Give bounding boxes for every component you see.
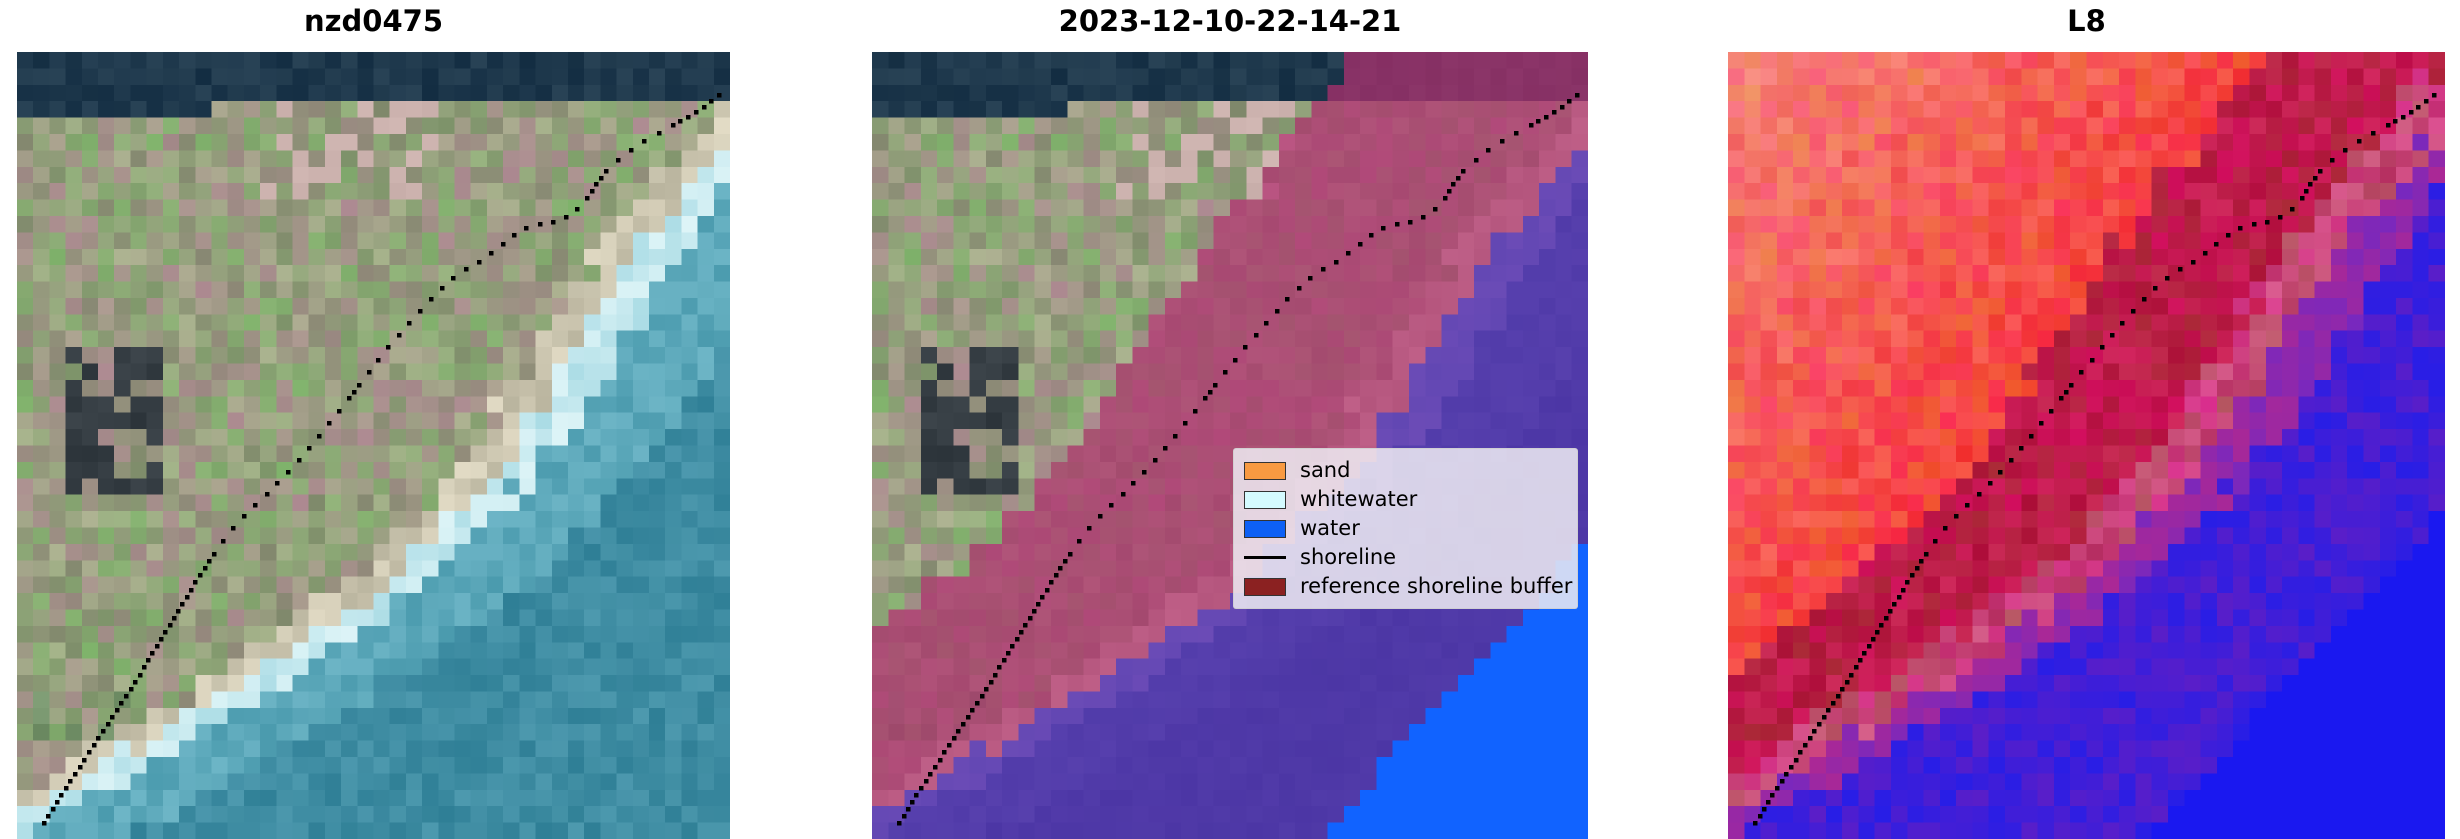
whitewater-color-patch [1244,491,1286,509]
whitewater-swatch-cell [1244,485,1292,514]
shoreline-overlay-classified [872,52,1588,839]
legend-item-sand: sand [1244,456,1568,485]
sand-color-patch [1244,462,1286,480]
legend-label-water: water [1292,514,1360,543]
panel-title-classified: 2023-12-10-22-14-21 [872,4,1588,38]
shoreline-detection-figure: nzd0475 2023-12-10-22-14-21 L8 sand [0,0,2460,839]
axes-rgb [17,52,730,839]
sand-swatch-cell [1244,456,1292,485]
legend-label-whitewater: whitewater [1292,485,1417,514]
panel-classified: 2023-12-10-22-14-21 [872,0,1588,839]
legend-item-shoreline: shoreline [1244,543,1568,572]
reference-buffer-swatch-cell [1244,572,1292,601]
axes-classified [872,52,1588,839]
legend-item-reference-buffer: reference shoreline buffer [1244,572,1568,601]
legend-label-reference-buffer: reference shoreline buffer [1292,572,1572,601]
panel-title-rgb: nzd0475 [17,4,730,38]
panel-rgb: nzd0475 [17,0,730,839]
panel-title-index: L8 [1728,4,2445,38]
axes-index [1728,52,2445,839]
legend-item-water: water [1244,514,1568,543]
shoreline-swatch-cell [1244,543,1292,572]
legend-label-sand: sand [1292,456,1350,485]
legend-item-whitewater: whitewater [1244,485,1568,514]
map-legend: sand whitewater water shoreline referenc [1233,448,1578,609]
reference-buffer-color-patch [1244,578,1286,596]
shoreline-overlay-index [1728,52,2445,839]
shoreline-line-sample [1244,556,1286,559]
water-color-patch [1244,520,1286,538]
panel-index: L8 [1728,0,2445,839]
shoreline-overlay-rgb [17,52,730,839]
water-swatch-cell [1244,514,1292,543]
legend-label-shoreline: shoreline [1292,543,1396,572]
